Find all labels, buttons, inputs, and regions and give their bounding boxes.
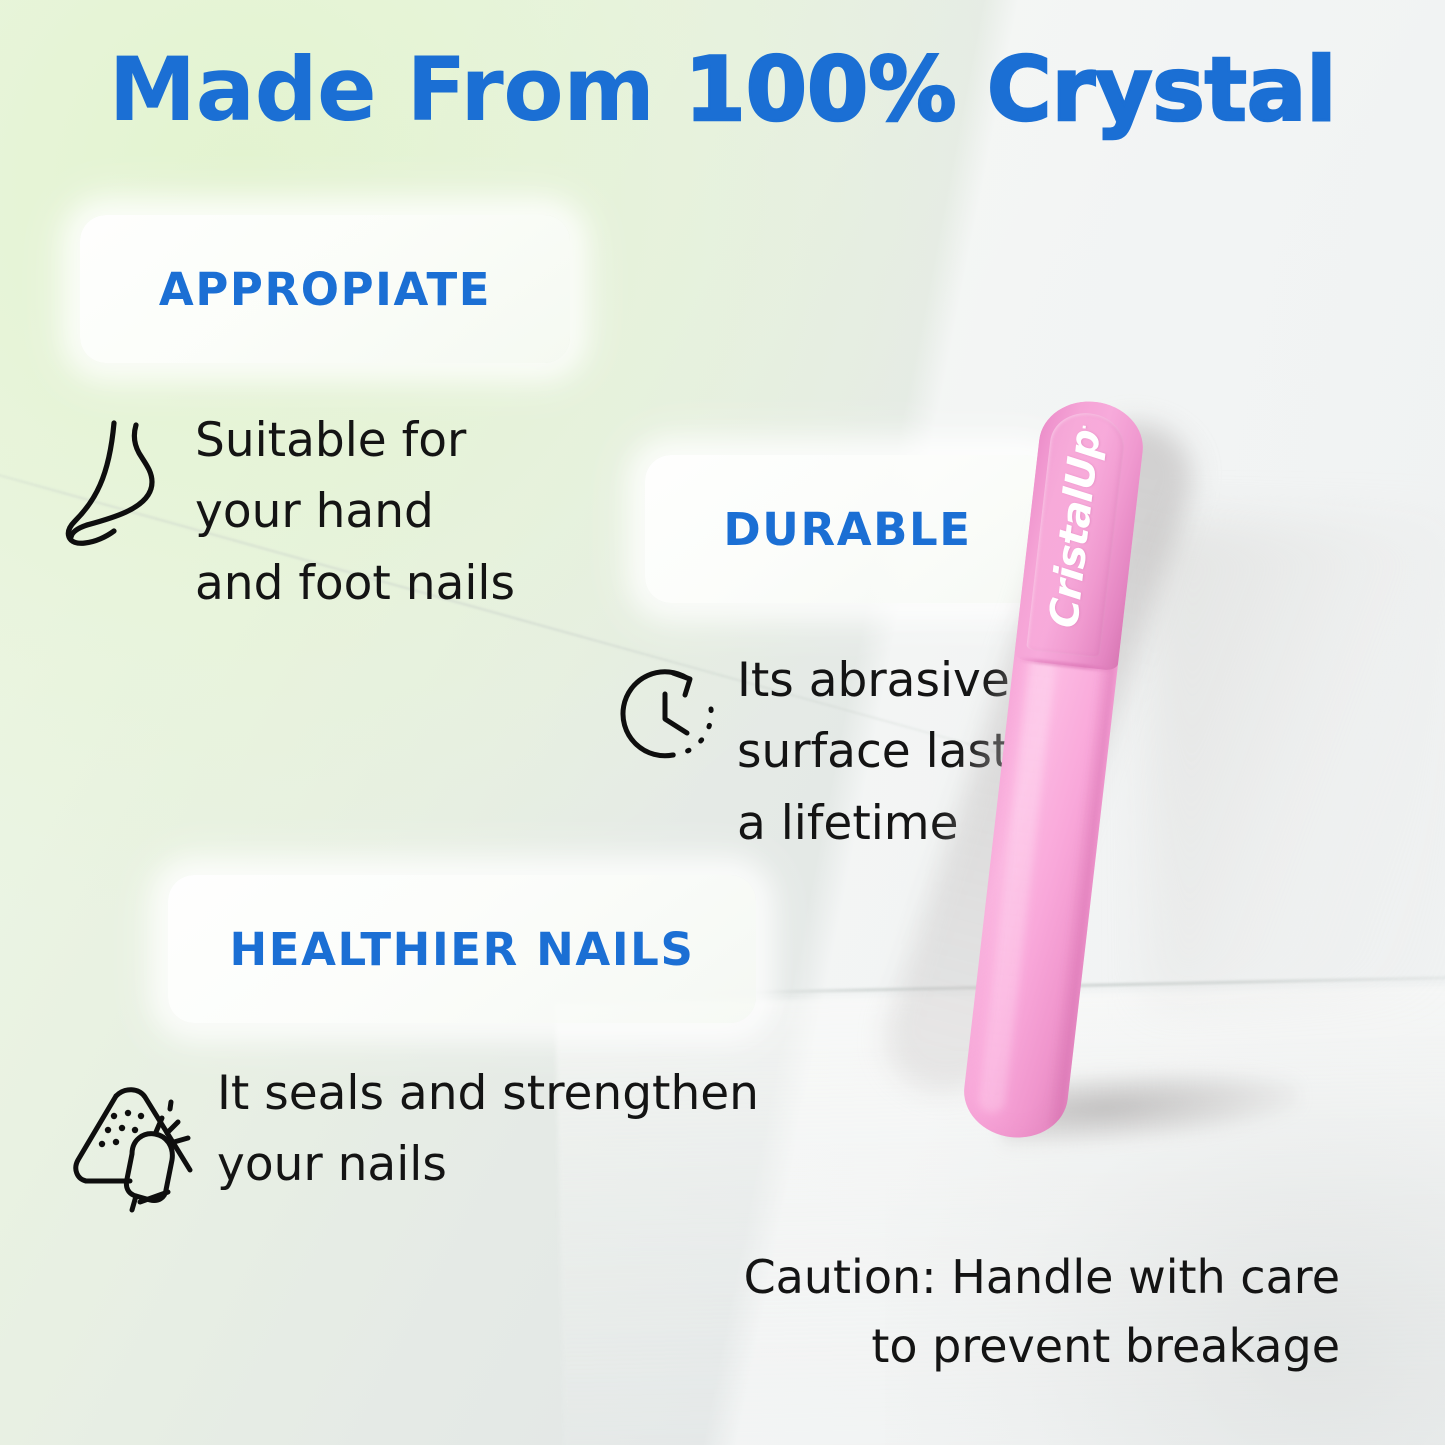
- feature-suitable-text: Suitable for your hand and foot nails: [195, 405, 515, 619]
- badge-appropiate: APPROPIATE: [80, 215, 570, 363]
- badge-durable-label: DURABLE: [723, 503, 971, 556]
- nail-file-sparkle-icon: [70, 1080, 205, 1210]
- badge-appropiate-label: APPROPIATE: [159, 263, 491, 316]
- clock-lifetime-icon: [615, 661, 725, 776]
- foot-outline-icon: [62, 419, 187, 559]
- page-title: Made From 100% Crystal: [0, 45, 1445, 135]
- product-nail-file: CristalUp.: [940, 380, 1420, 1170]
- title-part-light: Made From: [109, 38, 685, 141]
- title-part-heavy: 100% Crystal: [685, 38, 1337, 141]
- caution-text: Caution: Handle with care to prevent bre…: [600, 1243, 1340, 1381]
- badge-healthier-nails: HEALTHIER NAILS: [168, 875, 756, 1023]
- feature-seals-text: It seals and strengthen your nails: [217, 1058, 759, 1201]
- feature-suitable: Suitable for your hand and foot nails: [62, 405, 515, 619]
- badge-healthier-nails-label: HEALTHIER NAILS: [230, 923, 695, 976]
- feature-seals: It seals and strengthen your nails: [70, 1058, 759, 1210]
- infographic-canvas: Made From 100% Crystal APPROPIATE DURABL…: [0, 0, 1445, 1445]
